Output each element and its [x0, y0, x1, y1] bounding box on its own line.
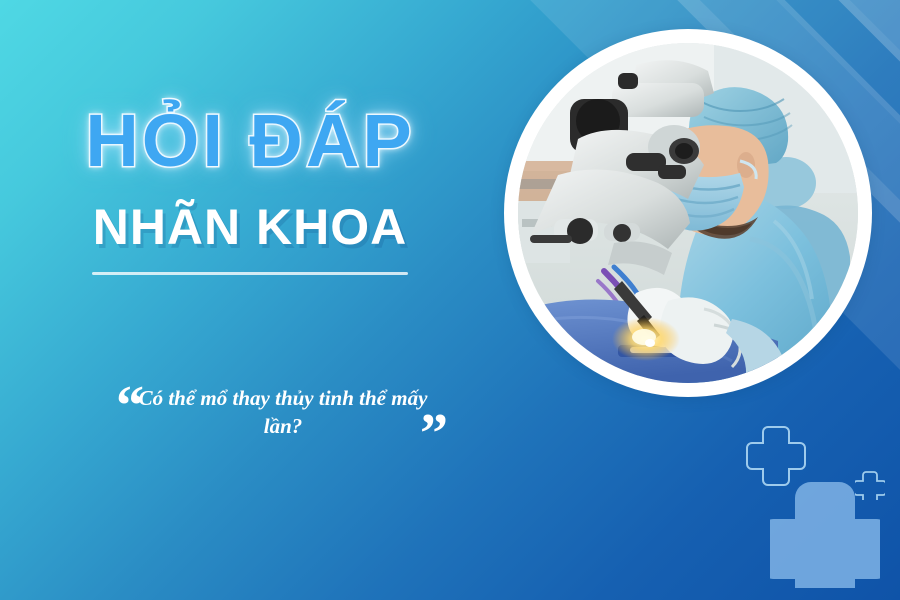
headline-block: HỎI ĐÁP NHÃN KHOA [0, 104, 500, 275]
poster-canvas: HỎI ĐÁP NHÃN KHOA “ ” Có thể mổ thay thủ… [0, 0, 900, 600]
page-title: HỎI ĐÁP [0, 104, 500, 178]
quote-text: Có thể mổ thay thủy tinh thể mấy lần? [138, 384, 428, 441]
photo-ring [504, 29, 872, 397]
photo-circle [518, 43, 858, 383]
page-subtitle: NHÃN KHOA [0, 202, 500, 252]
stripe-bottom-left-4 [0, 0, 69, 600]
quote-block: “ ” Có thể mổ thay thủy tinh thể mấy lần… [110, 370, 440, 450]
title-divider [92, 272, 408, 275]
stripe-bottom-left-5 [0, 0, 123, 600]
plus-icon-outline-small [855, 470, 885, 500]
eye-surgery-photo [518, 43, 858, 383]
quote-line-1: Có thể mổ thay thủy tinh thể [139, 386, 386, 410]
